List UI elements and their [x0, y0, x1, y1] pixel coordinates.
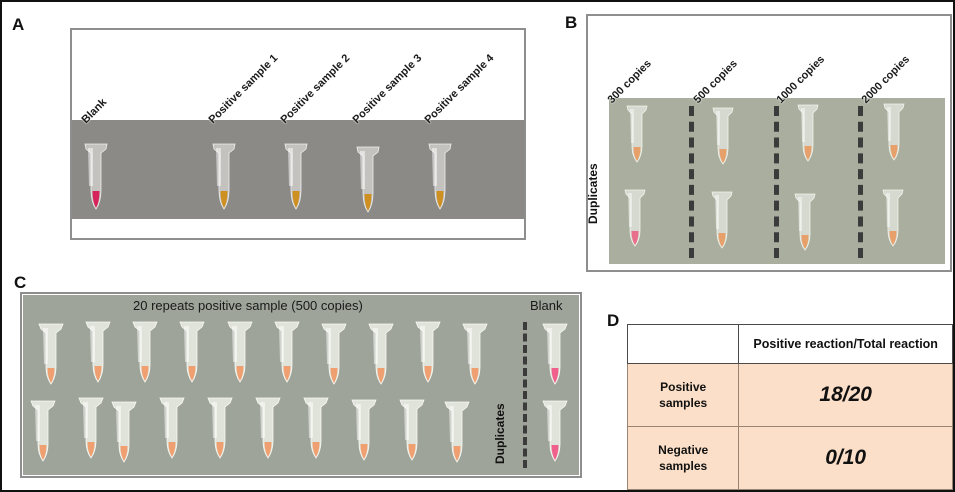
row-label-line2: samples [659, 459, 707, 473]
panel-c-side-label: Duplicates [493, 403, 507, 464]
panel-c-tube-r1c3 [157, 396, 187, 462]
panel-a-tube-0 [82, 142, 110, 214]
panel-c-title: 20 repeats positive sample (500 copies) [133, 298, 363, 313]
figure-container: A Blank Positive sample 1 Positive sampl… [0, 0, 955, 492]
panel-a-tube-2 [282, 142, 310, 214]
panel-d-letter: D [607, 312, 619, 329]
panel-a-tube-1 [210, 142, 238, 214]
panel-b-letter: B [565, 14, 577, 31]
panel-b-divider-3 [858, 106, 863, 258]
header-empty-cell [628, 325, 739, 364]
panel-c-tube-r1c4 [205, 396, 235, 462]
row-value-negative-samples: 0/10 [739, 427, 953, 490]
row-label-line1: Negative [658, 443, 708, 457]
row-label-line1: Positive [660, 380, 706, 394]
row-value-positive-samples: 18/20 [739, 364, 953, 427]
panel-c-tube-r1c1 [76, 396, 106, 462]
panel-c-blank-tube-0 [540, 322, 570, 388]
panel-c-tube-r0c2 [130, 320, 160, 386]
row-label-negative-samples: Negative samples [628, 427, 739, 490]
panel-c-tube-r0c6 [319, 322, 349, 388]
row-label-positive-samples: Positive samples [628, 364, 739, 427]
panel-b-tube-r0c1 [710, 106, 736, 168]
table-header-row: Positive reaction/Total reaction [628, 325, 953, 364]
panel-c-tube-r1c9 [442, 400, 472, 466]
panel-a-tube-4 [426, 142, 454, 214]
panel-b-tube-r0c2 [795, 103, 821, 165]
panel-c-blank-tube-1 [540, 399, 570, 465]
panel-b-side-label: Duplicates [586, 163, 600, 224]
panel-b-tube-r0c3 [881, 102, 907, 164]
panel-c-tube-r1c7 [349, 398, 379, 464]
panel-d-table: Positive reaction/Total reaction Positiv… [627, 324, 953, 490]
panel-c-tube-r1c8 [397, 398, 427, 464]
row-label-line2: samples [659, 396, 707, 410]
panel-c-tube-r0c9 [460, 322, 490, 388]
panel-c-tube-r0c3 [177, 320, 207, 386]
panel-a-letter: A [12, 16, 24, 33]
panel-c-tube-r0c1 [83, 320, 113, 386]
panel-c-tube-r1c6 [301, 396, 331, 462]
panel-c-tube-r0c8 [413, 320, 443, 386]
panel-c-tube-r1c2 [109, 400, 139, 466]
panel-c-tube-r1c5 [253, 396, 283, 462]
panel-c-letter: C [14, 274, 26, 291]
panel-c-tube-r1c0 [28, 399, 58, 465]
table-row: Negative samples 0/10 [628, 427, 953, 490]
panel-b-divider-2 [774, 106, 779, 258]
panel-c-tube-r0c0 [36, 322, 66, 388]
panel-b-tube-r1c3 [880, 188, 906, 250]
panel-c-blank-label: Blank [530, 298, 563, 313]
panel-c-tube-r0c4 [225, 320, 255, 386]
panel-b-tube-r0c0 [624, 104, 650, 166]
panel-c-tube-r0c7 [366, 322, 396, 388]
panel-a-tube-3 [354, 145, 382, 217]
table-row: Positive samples 18/20 [628, 364, 953, 427]
panel-c-divider [523, 322, 527, 468]
panel-b-divider-1 [689, 106, 694, 258]
panel-b-tube-r1c1 [709, 190, 735, 252]
header-positive-total: Positive reaction/Total reaction [739, 325, 953, 364]
panel-b-tube-r1c0 [622, 188, 648, 250]
panel-c-tube-r0c5 [272, 320, 302, 386]
panel-b-tube-r1c2 [792, 192, 818, 254]
